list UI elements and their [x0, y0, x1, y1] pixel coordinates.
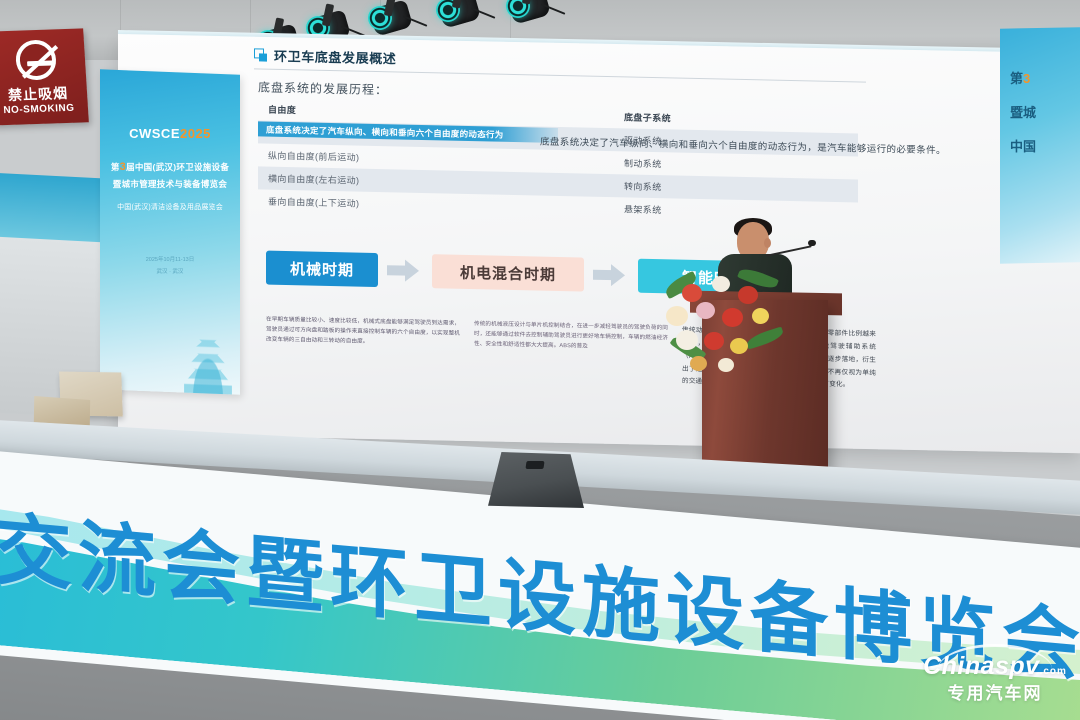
- speaker-ear: [764, 238, 771, 248]
- slide-title: 环卫车底盘发展概述: [274, 46, 396, 68]
- event-banner-right-line1: 第3: [1010, 62, 1080, 96]
- monitor-handle: [525, 461, 544, 469]
- flower-arrangement: [660, 268, 792, 386]
- arrow-right-icon: [593, 264, 629, 287]
- event-banner-left: CWSCE2025 第3届中国(武汉)环卫设施设备 暨城市管理技术与装备博览会 …: [100, 69, 240, 394]
- stage-description-electromechanical: 传统的机械液压设计与单片机控制结合，在进一步减轻驾驶员的驾驶负荷的同时，还能够通…: [474, 320, 668, 388]
- event-banner-right: 第3 暨城 中国: [1000, 27, 1080, 263]
- stage-monitor-speaker: [488, 452, 584, 508]
- no-smoking-icon: [15, 39, 57, 80]
- watermark-brand-cn: 专用汽车网: [920, 679, 1070, 704]
- stage-box-mechanical: 机械时期: [266, 251, 378, 287]
- floor-carton: [34, 396, 90, 426]
- dof-subsystem-table: 自由度 底盘子系统 驱动系统 纵向自由度(前后运动) 制动系统 横向自由度(左右…: [258, 97, 858, 225]
- table-cell-subsystem: 悬架系统: [588, 197, 858, 226]
- event-banner-right-line2: 暨城: [1010, 96, 1080, 130]
- no-smoking-sign: 禁止吸烟 NO-SMOKING: [0, 28, 89, 125]
- square-bullet-icon: [254, 48, 267, 61]
- no-smoking-label-en: NO-SMOKING: [0, 102, 88, 116]
- event-banner-right-line3: 中国: [1010, 130, 1080, 164]
- watermark: Chinaspv.com 专用汽车网: [920, 636, 1070, 708]
- pagoda-icon: [182, 328, 234, 394]
- event-title-sub: 中国(武汉)清洁设备及用品展览会: [108, 202, 232, 212]
- watermark-arc-icon: [938, 644, 1052, 674]
- event-title-main: 第3届中国(武汉)环卫设施设备 暨城市管理技术与装备博览会: [108, 157, 232, 193]
- stage-description-mechanical: 在早期车辆质量比较小、速度比较低，机械式底盘能够满足驾驶员到达需求，驾驶员通过可…: [266, 316, 460, 384]
- event-logo: CWSCE2025: [108, 126, 232, 141]
- microphone-icon: [808, 240, 816, 246]
- conference-stage-scene: 禁止吸烟 NO-SMOKING CWSCE2025 第3届中国(武汉)环卫设施设…: [0, 0, 1080, 720]
- arrow-right-icon: [387, 259, 423, 282]
- stage-box-electromechanical: 机电混合时期: [432, 254, 584, 291]
- event-date: 2025年10月11-13日 武汉 · 武汉: [108, 254, 232, 278]
- hall-wall-accent: [0, 173, 112, 245]
